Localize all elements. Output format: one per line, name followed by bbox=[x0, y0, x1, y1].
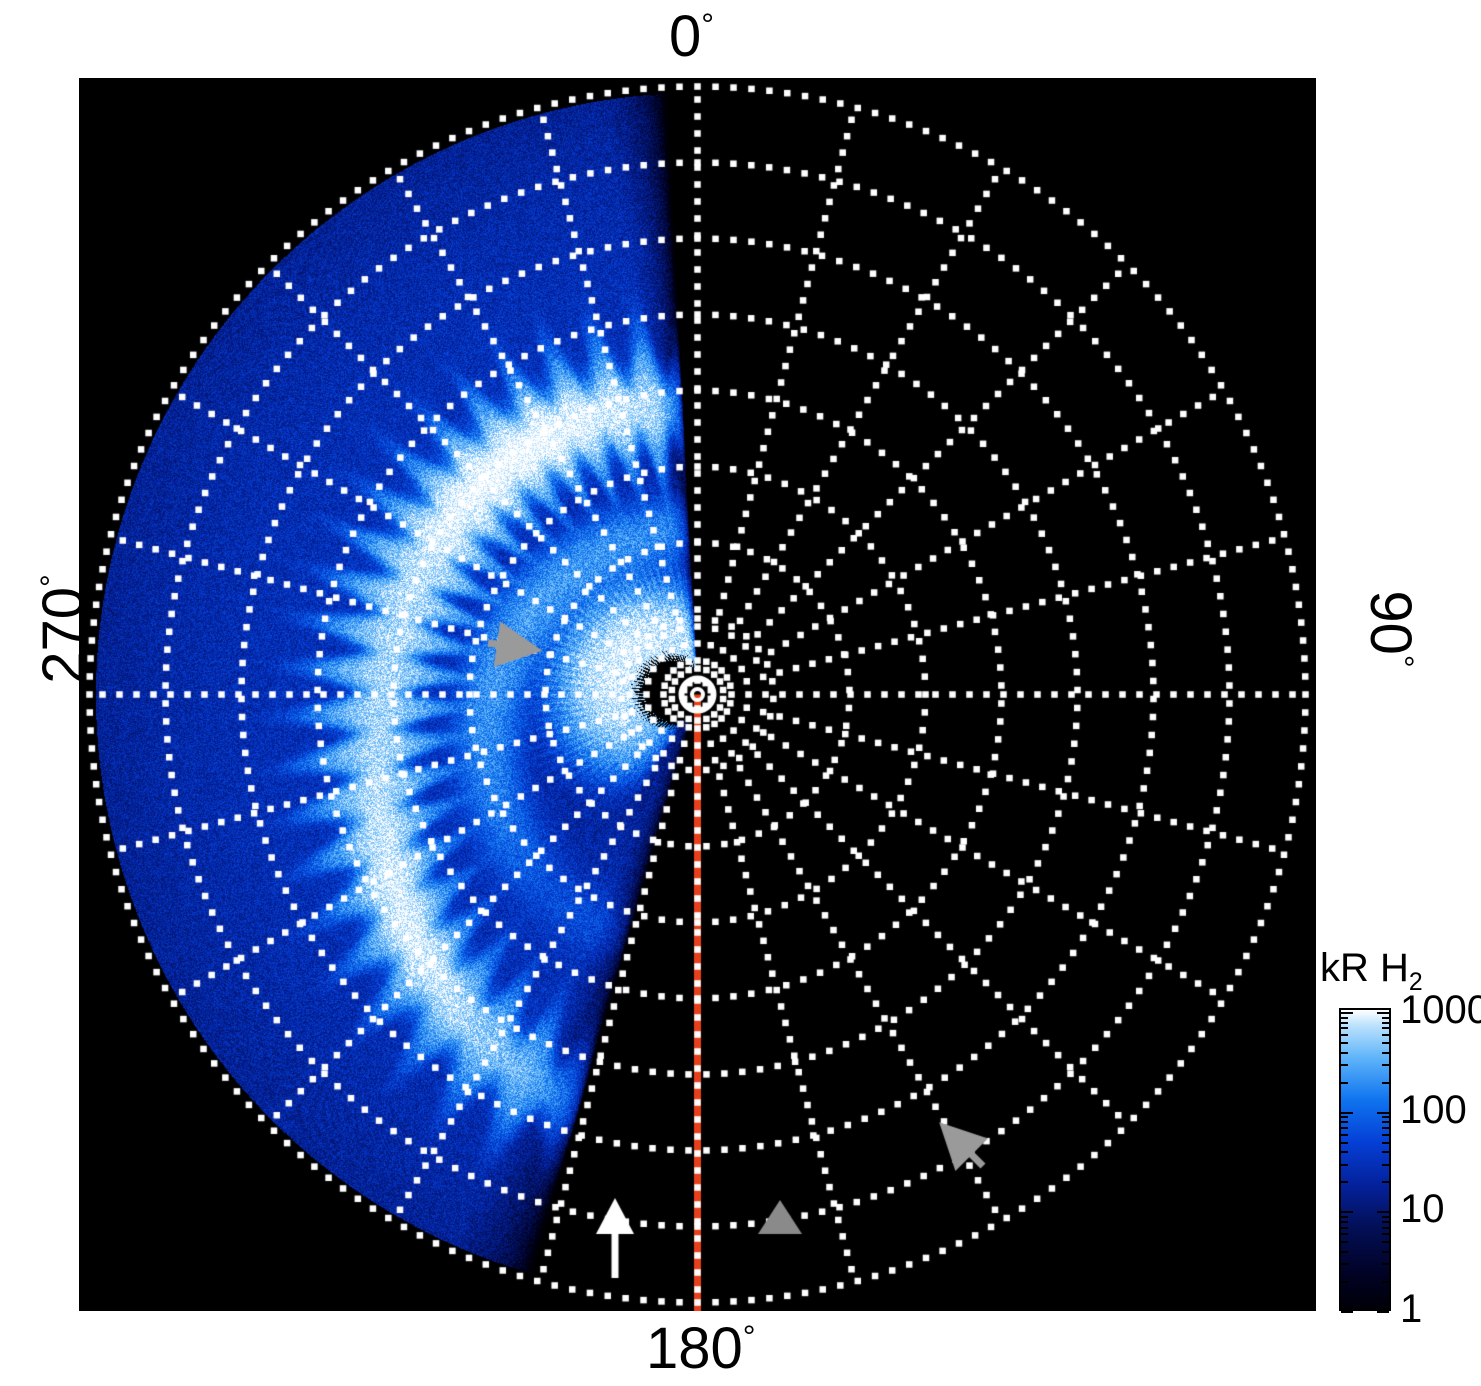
colorbar-tick bbox=[1341, 1221, 1348, 1223]
colorbar-tick-label: 100 bbox=[1400, 1090, 1467, 1130]
colorbar-tick bbox=[1382, 1164, 1389, 1166]
colorbar-tick bbox=[1341, 1121, 1348, 1123]
colorbar-tick bbox=[1382, 1221, 1389, 1223]
colorbar-title: kR H2 bbox=[1320, 948, 1423, 988]
colorbar-tick-label: 1 bbox=[1400, 1289, 1422, 1329]
colorbar-tick bbox=[1382, 1042, 1389, 1044]
colorbar-tick bbox=[1382, 1064, 1389, 1066]
colorbar-tick bbox=[1341, 1164, 1348, 1166]
colorbar-tick bbox=[1382, 1134, 1389, 1136]
colorbar-tick bbox=[1341, 1127, 1348, 1129]
colorbar-tick bbox=[1382, 1241, 1389, 1243]
figure-stage: 0° 180° 270° 90° kR H2 1000100101 bbox=[0, 0, 1481, 1386]
colorbar-tick bbox=[1382, 1263, 1389, 1265]
colorbar-tick bbox=[1341, 1181, 1348, 1183]
colorbar-tick bbox=[1382, 1251, 1389, 1253]
colorbar-tick bbox=[1341, 1241, 1348, 1243]
colorbar-tick bbox=[1382, 1281, 1389, 1283]
colorbar-tick bbox=[1377, 1211, 1389, 1213]
colorbar-tick bbox=[1382, 1216, 1389, 1218]
colorbar-tick bbox=[1382, 1116, 1389, 1118]
colorbar-tick bbox=[1382, 1027, 1389, 1029]
colorbar-tick bbox=[1341, 1082, 1348, 1084]
axis-label-right: 90° bbox=[1361, 539, 1419, 719]
axis-label-top: 0° bbox=[669, 8, 714, 66]
colorbar-tick bbox=[1341, 1034, 1348, 1036]
colorbar-tick bbox=[1382, 1227, 1389, 1229]
colorbar-tick bbox=[1382, 1233, 1389, 1235]
colorbar-tick bbox=[1341, 1216, 1348, 1218]
colorbar-tick bbox=[1377, 1311, 1389, 1313]
colorbar-tick bbox=[1341, 1151, 1348, 1153]
colorbar-tick bbox=[1341, 1142, 1348, 1144]
colorbar-tick-label: 1000 bbox=[1400, 990, 1481, 1030]
colorbar-tick bbox=[1341, 1281, 1348, 1283]
colorbar-tick bbox=[1382, 1082, 1389, 1084]
colorbar-tick bbox=[1341, 1022, 1348, 1024]
colorbar-tick-label: 10 bbox=[1400, 1189, 1445, 1229]
colorbar-box bbox=[1339, 1008, 1391, 1311]
colorbar-tick bbox=[1341, 1027, 1348, 1029]
colorbar-tick bbox=[1382, 1052, 1389, 1054]
colorbar-tick bbox=[1382, 1034, 1389, 1036]
colorbar-tick bbox=[1341, 1211, 1353, 1213]
colorbar-tick bbox=[1341, 1042, 1348, 1044]
colorbar-tick bbox=[1382, 1142, 1389, 1144]
colorbar-tick bbox=[1341, 1012, 1353, 1014]
colorbar-tick bbox=[1382, 1151, 1389, 1153]
colorbar-tick bbox=[1341, 1112, 1353, 1114]
colorbar-tick bbox=[1382, 1181, 1389, 1183]
colorbar-tick bbox=[1341, 1116, 1348, 1118]
colorbar-tick bbox=[1341, 1017, 1348, 1019]
colorbar-tick bbox=[1341, 1233, 1348, 1235]
colorbar-tick bbox=[1377, 1012, 1389, 1014]
colorbar-tick bbox=[1382, 1017, 1389, 1019]
colorbar-tick bbox=[1341, 1064, 1348, 1066]
colorbar-tick bbox=[1341, 1134, 1348, 1136]
colorbar-tick bbox=[1382, 1121, 1389, 1123]
colorbar-tick bbox=[1341, 1251, 1348, 1253]
aurora-image-canvas bbox=[79, 78, 1316, 1311]
colorbar-tick bbox=[1341, 1052, 1348, 1054]
axis-label-bottom: 180° bbox=[646, 1320, 756, 1378]
colorbar: kR H2 1000100101 bbox=[1320, 948, 1480, 1318]
colorbar-tick bbox=[1382, 1022, 1389, 1024]
colorbar-tick bbox=[1341, 1227, 1348, 1229]
colorbar-tick bbox=[1377, 1112, 1389, 1114]
polar-plot-area bbox=[79, 78, 1316, 1311]
colorbar-tick bbox=[1341, 1263, 1348, 1265]
colorbar-tick bbox=[1341, 1311, 1353, 1313]
colorbar-tick bbox=[1382, 1127, 1389, 1129]
